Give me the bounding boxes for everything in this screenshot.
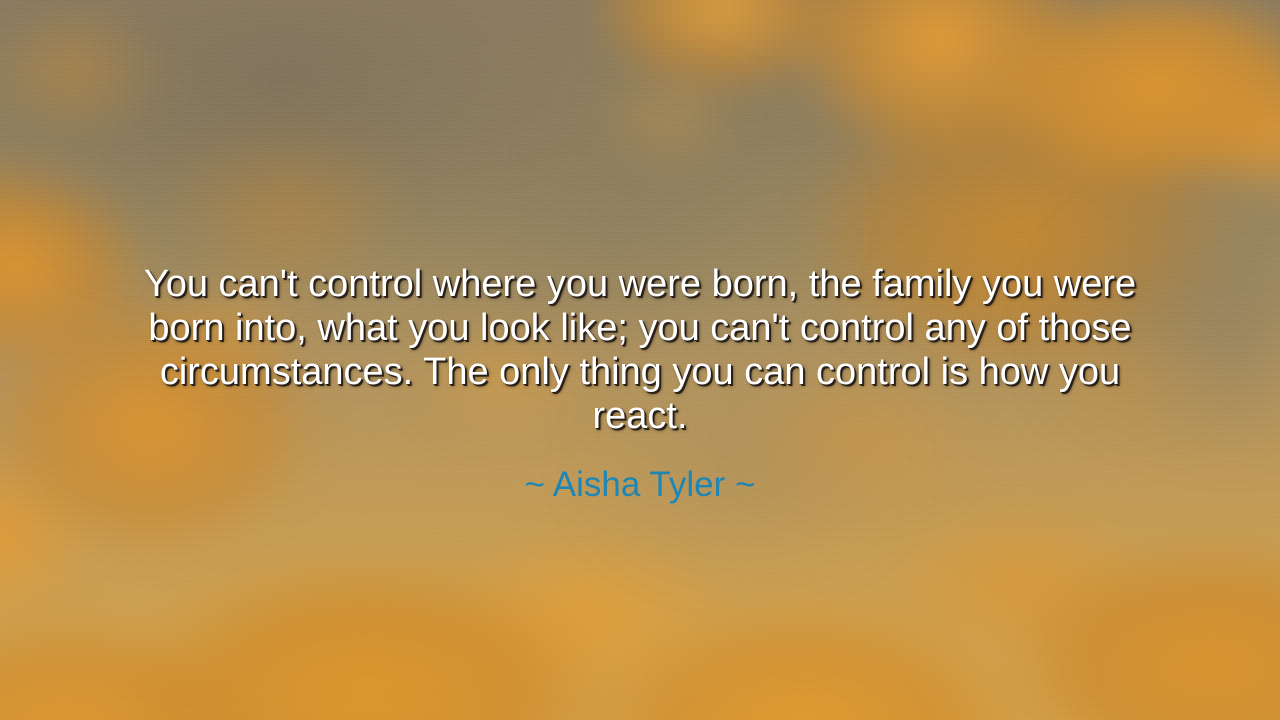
quote-line-1: You can't control where you were born, t…: [144, 263, 1136, 305]
quote-line-4: react.: [592, 395, 687, 437]
quote-line-3: circumstances. The only thing you can co…: [160, 351, 1120, 393]
quote-text: You can't control where you were born, t…: [108, 262, 1172, 438]
quote-block: You can't control where you were born, t…: [0, 262, 1280, 506]
quote-card-canvas: You can't control where you were born, t…: [0, 0, 1280, 720]
quote-attribution: ~ Aisha Tyler ~: [108, 464, 1172, 506]
quote-line-2: born into, what you look like; you can't…: [148, 307, 1131, 349]
